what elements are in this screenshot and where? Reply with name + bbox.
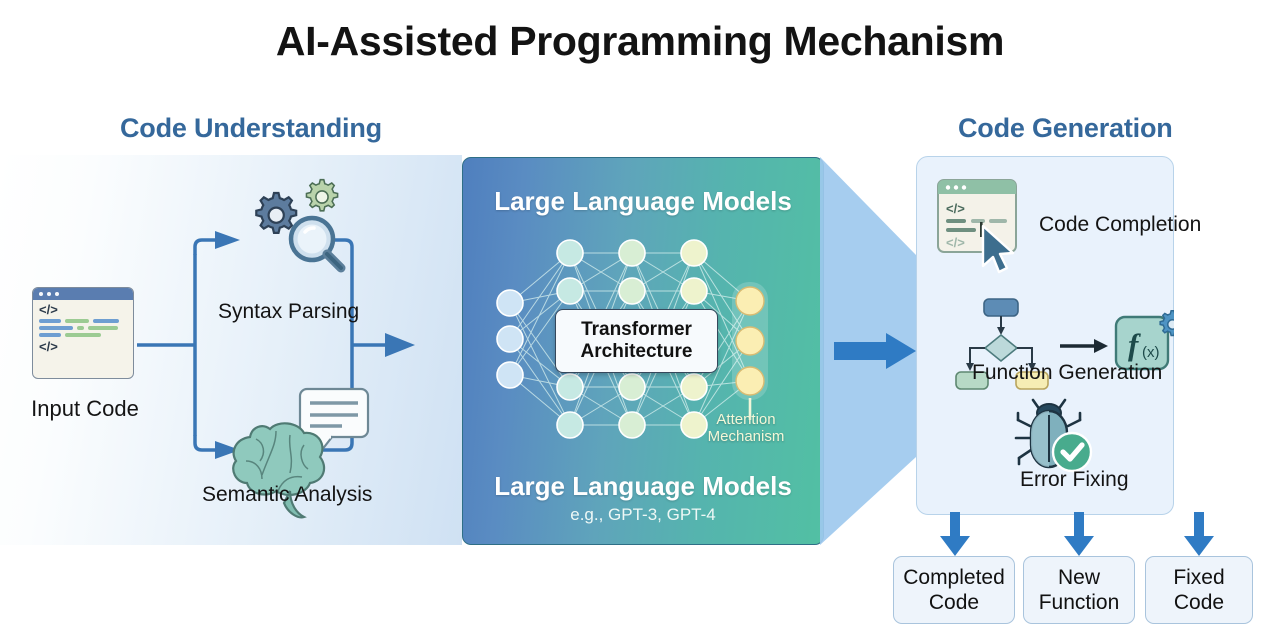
function-generation-label: Function Generation bbox=[972, 361, 1162, 385]
transformer-line-1: Transformer bbox=[581, 319, 692, 341]
code-tag-close: </> bbox=[39, 340, 127, 353]
section-header-code-generation: Code Generation bbox=[958, 113, 1173, 144]
window-title-bar bbox=[33, 288, 133, 300]
llm-title-bottom: Large Language Models bbox=[463, 471, 823, 502]
output-box-new-function: New Function bbox=[1023, 556, 1135, 624]
svg-text:(x): (x) bbox=[1142, 344, 1160, 361]
magnifier-icon bbox=[291, 218, 341, 268]
svg-text:</>: </> bbox=[946, 235, 965, 250]
llm-panel: Large Language Models bbox=[462, 157, 824, 545]
window-dot bbox=[39, 292, 43, 296]
attention-mechanism-label: Attention Mechanism bbox=[696, 411, 796, 445]
window-dot bbox=[55, 292, 59, 296]
attention-layer-nodes bbox=[736, 287, 764, 395]
bug-check-icon bbox=[1016, 400, 1091, 471]
semantic-analysis-label: Semantic Analysis bbox=[202, 483, 372, 507]
section-header-code-understanding: Code Understanding bbox=[120, 113, 382, 144]
code-understanding-panel: </> bbox=[0, 155, 462, 545]
window-dot bbox=[47, 292, 51, 296]
diagram-canvas: AI-Assisted Programming Mechanism Code U… bbox=[0, 0, 1280, 640]
output-arrows bbox=[880, 512, 1280, 562]
input-layer-nodes bbox=[497, 290, 523, 388]
transformer-architecture-box: Transformer Architecture bbox=[555, 309, 718, 373]
attention-label-line-1: Attention bbox=[696, 411, 796, 428]
attention-label-line-2: Mechanism bbox=[696, 428, 796, 445]
window-body: </> bbox=[33, 300, 133, 356]
code-completion-label: Code Completion bbox=[1039, 213, 1201, 237]
output-line-1: Fixed bbox=[1173, 565, 1224, 590]
output-line-1: New bbox=[1039, 565, 1120, 590]
gears-magnifier-icon bbox=[256, 180, 341, 268]
svg-text:</>: </> bbox=[946, 201, 965, 216]
output-box-completed-code: Completed Code bbox=[893, 556, 1015, 624]
code-lines bbox=[39, 319, 127, 337]
code-line bbox=[39, 326, 127, 330]
syntax-parsing-label: Syntax Parsing bbox=[218, 300, 359, 324]
input-code-window-icon: </> bbox=[32, 287, 134, 379]
error-fixing-label: Error Fixing bbox=[1020, 468, 1129, 492]
input-code-label: Input Code bbox=[0, 396, 170, 422]
output-box-fixed-code: Fixed Code bbox=[1145, 556, 1253, 624]
code-window-cursor-icon: </> </> bbox=[938, 180, 1016, 272]
output-line-2: Code bbox=[1173, 590, 1224, 615]
code-tag-open: </> bbox=[39, 303, 127, 316]
code-line bbox=[39, 333, 127, 337]
output-line-2: Code bbox=[903, 590, 1005, 615]
output-line-1: Completed bbox=[903, 565, 1005, 590]
code-line bbox=[39, 319, 127, 323]
page-title: AI-Assisted Programming Mechanism bbox=[0, 18, 1280, 65]
llm-subtitle: e.g., GPT-3, GPT-4 bbox=[463, 505, 823, 525]
code-generation-icons: </> </> bbox=[916, 156, 1174, 515]
output-line-2: Function bbox=[1039, 590, 1120, 615]
transformer-line-2: Architecture bbox=[581, 341, 693, 363]
